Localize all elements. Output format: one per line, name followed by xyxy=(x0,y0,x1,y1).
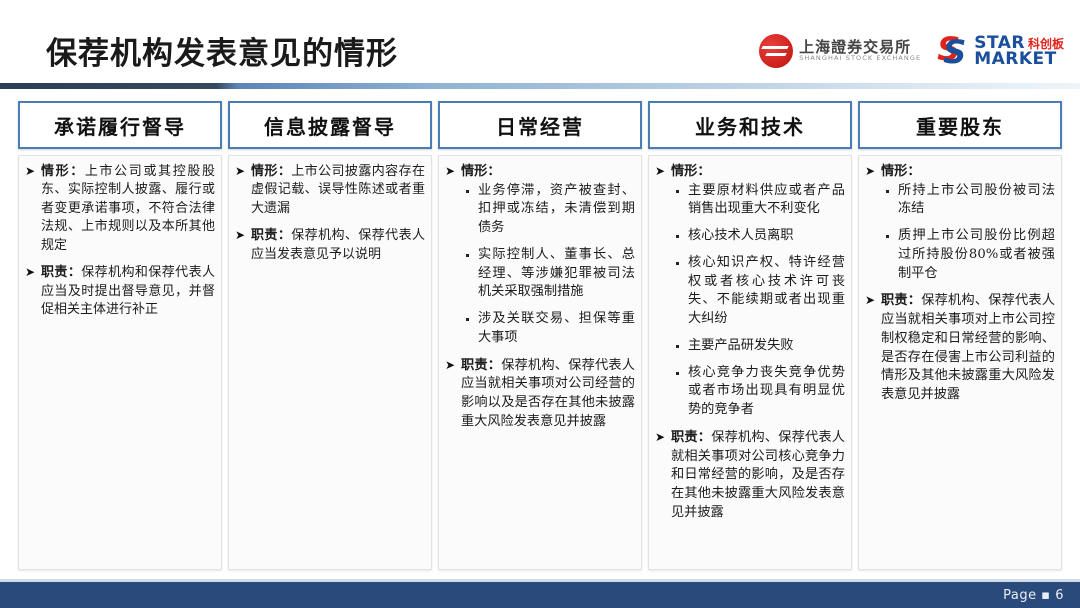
slide: 保荐机构发表意见的情形 上海證券交易所 SHANGHAI STOCK EXCHA… xyxy=(0,0,1080,608)
bullet-list: ➤情形：所持上市公司股份被司法冻结质押上市公司股份比例超过所持股份80%或者被强… xyxy=(864,163,1055,405)
list-item: ➤情形：主要原材料供应或者产品销售出现重大不利变化核心技术人员离职核心知识产权、… xyxy=(654,163,845,420)
column-header-4[interactable]: 业务和技术 xyxy=(648,101,852,149)
arrow-bullet-icon: ➤ xyxy=(235,163,245,180)
list-item: ➤职责：保荐机构、保荐代表人就相关事项对公司核心竞争力和日常经营的影响，及是否存… xyxy=(654,429,845,523)
bullet-list: ➤情形：主要原材料供应或者产品销售出现重大不利变化核心技术人员离职核心知识产权、… xyxy=(654,163,845,522)
page-title: 保荐机构发表意见的情形 xyxy=(46,28,398,73)
sse-logo-cn: 上海證券交易所 xyxy=(799,40,921,56)
column-header-3[interactable]: 日常经营 xyxy=(438,101,642,149)
sub-item-text: 主要产品研发失败 xyxy=(688,338,794,353)
arrow-bullet-icon: ➤ xyxy=(655,429,665,446)
sub-list-item: 涉及关联交易、担保等重大事项 xyxy=(464,310,635,347)
square-bullet-icon xyxy=(466,254,469,257)
square-bullet-icon xyxy=(466,318,469,321)
star-logo-en-bottom: MARKET xyxy=(974,51,1064,67)
sub-item-text: 业务停滞，资产被查封、扣押或冻结，未清偿到期债务 xyxy=(478,183,635,235)
sub-item-text: 核心竞争力丧失竞争优势或者市场出现具有明显优势的竞争者 xyxy=(688,365,845,417)
square-bullet-icon xyxy=(676,345,679,348)
list-item: ➤情形：上市公司披露内容存在虚假记载、误导性陈述或者重大遗漏 xyxy=(234,163,425,218)
sub-item-text: 实际控制人、董事长、总经理、等涉嫌犯罪被司法机关采取强制措施 xyxy=(478,247,635,299)
list-item: ➤情形：所持上市公司股份被司法冻结质押上市公司股份比例超过所持股份80%或者被强… xyxy=(864,163,1055,283)
sub-list-item: 主要产品研发失败 xyxy=(674,337,845,356)
sub-item-text: 主要原材料供应或者产品销售出现重大不利变化 xyxy=(688,183,845,217)
column-body-2: ➤情形：上市公司披露内容存在虚假记载、误导性陈述或者重大遗漏➤职责：保荐机构、保… xyxy=(228,155,432,570)
sub-list-item: 核心技术人员离职 xyxy=(674,227,845,246)
logo-group: 上海證券交易所 SHANGHAI STOCK EXCHANGE SS STAR … xyxy=(759,34,1064,68)
item-label: 情形： xyxy=(41,164,85,179)
page-number: Page ▪ 6 xyxy=(1003,588,1064,603)
sub-item-text: 质押上市公司股份比例超过所持股份80%或者被强制平仓 xyxy=(898,228,1055,280)
column-body-5: ➤情形：所持上市公司股份被司法冻结质押上市公司股份比例超过所持股份80%或者被强… xyxy=(858,155,1062,570)
column-5: 重要股东➤情形：所持上市公司股份被司法冻结质押上市公司股份比例超过所持股份80%… xyxy=(858,101,1062,570)
column-header-5[interactable]: 重要股东 xyxy=(858,101,1062,149)
list-item: ➤情形：上市公司或其控股股东、实际控制人披露、履行或者变更承诺事项，不符合法律法… xyxy=(24,163,215,255)
list-item: ➤职责：保荐机构、保荐代表人应当就相关事项对公司经营的影响以及是否存在其他未披露… xyxy=(444,357,635,432)
square-bullet-icon xyxy=(676,190,679,193)
sub-item-text: 核心技术人员离职 xyxy=(688,228,794,243)
arrow-bullet-icon: ➤ xyxy=(655,163,665,180)
slide-header: 保荐机构发表意见的情形 上海證券交易所 SHANGHAI STOCK EXCHA… xyxy=(0,0,1080,92)
sub-list-item: 业务停滞，资产被查封、扣押或冻结，未清偿到期债务 xyxy=(464,182,635,238)
arrow-bullet-icon: ➤ xyxy=(25,163,35,180)
column-header-label: 日常经营 xyxy=(496,111,584,140)
shanghai-stock-exchange-logo: 上海證券交易所 SHANGHAI STOCK EXCHANGE xyxy=(759,34,921,68)
column-header-1[interactable]: 承诺履行督导 xyxy=(18,101,222,149)
item-label: 职责： xyxy=(251,228,291,243)
arrow-bullet-icon: ➤ xyxy=(445,163,455,180)
item-label: 职责： xyxy=(671,430,711,445)
star-market-logo: SS STAR 科创板 MARKET xyxy=(937,35,1064,67)
sub-list-item: 质押上市公司股份比例超过所持股份80%或者被强制平仓 xyxy=(884,227,1055,283)
arrow-bullet-icon: ➤ xyxy=(865,292,875,309)
star-emblem-icon: SS xyxy=(937,35,969,67)
slide-footer: Page ▪ 6 xyxy=(0,579,1080,608)
column-body-3: ➤情形：业务停滞，资产被查封、扣押或冻结，未清偿到期债务实际控制人、董事长、总经… xyxy=(438,155,642,570)
list-item: ➤情形：业务停滞，资产被查封、扣押或冻结，未清偿到期债务实际控制人、董事长、总经… xyxy=(444,163,635,348)
list-item: ➤职责：保荐机构、保荐代表人应当就相关事项对上市公司控制权稳定和日常经营的影响、… xyxy=(864,292,1055,404)
item-text: 保荐机构、保荐代表人应当就相关事项对上市公司控制权稳定和日常经营的影响、是否存在… xyxy=(881,293,1055,402)
column-3: 日常经营➤情形：业务停滞，资产被查封、扣押或冻结，未清偿到期债务实际控制人、董事… xyxy=(438,101,642,570)
bullet-list: ➤情形：业务停滞，资产被查封、扣押或冻结，未清偿到期债务实际控制人、董事长、总经… xyxy=(444,163,635,432)
sse-emblem-icon xyxy=(759,34,793,68)
arrow-bullet-icon: ➤ xyxy=(445,357,455,374)
arrow-bullet-icon: ➤ xyxy=(235,227,245,244)
sub-list-item: 实际控制人、董事长、总经理、等涉嫌犯罪被司法机关采取强制措施 xyxy=(464,246,635,302)
square-bullet-icon xyxy=(886,190,889,193)
square-bullet-icon xyxy=(676,262,679,265)
sse-logo-en: SHANGHAI STOCK EXCHANGE xyxy=(799,55,921,62)
list-item: ➤职责：保荐机构和保荐代表人应当及时提出督导意见，并督促相关主体进行补正 xyxy=(24,264,215,319)
column-header-label: 业务和技术 xyxy=(695,111,805,140)
column-header-2[interactable]: 信息披露督导 xyxy=(228,101,432,149)
sub-list-item: 核心竞争力丧失竞争优势或者市场出现具有明显优势的竞争者 xyxy=(674,364,845,420)
sub-item-text: 所持上市公司股份被司法冻结 xyxy=(898,183,1055,217)
square-bullet-icon xyxy=(466,190,469,193)
column-header-label: 重要股东 xyxy=(916,111,1004,140)
column-1: 承诺履行督导➤情形：上市公司或其控股股东、实际控制人披露、履行或者变更承诺事项，… xyxy=(18,101,222,570)
square-bullet-icon xyxy=(676,372,679,375)
sub-item-text: 涉及关联交易、担保等重大事项 xyxy=(478,311,635,345)
sub-bullet-list: 主要原材料供应或者产品销售出现重大不利变化核心技术人员离职核心知识产权、特许经营… xyxy=(671,182,845,420)
arrow-bullet-icon: ➤ xyxy=(865,163,875,180)
column-header-label: 信息披露督导 xyxy=(264,111,396,140)
column-4: 业务和技术➤情形：主要原材料供应或者产品销售出现重大不利变化核心技术人员离职核心… xyxy=(648,101,852,570)
square-bullet-icon xyxy=(886,235,889,238)
arrow-bullet-icon: ➤ xyxy=(25,264,35,281)
item-label: 情形： xyxy=(461,164,501,179)
sub-bullet-list: 所持上市公司股份被司法冻结质押上市公司股份比例超过所持股份80%或者被强制平仓 xyxy=(881,182,1055,284)
list-item: ➤职责：保荐机构、保荐代表人应当发表意见予以说明 xyxy=(234,227,425,264)
column-body-1: ➤情形：上市公司或其控股股东、实际控制人披露、履行或者变更承诺事项，不符合法律法… xyxy=(18,155,222,570)
title-divider xyxy=(0,83,1080,89)
sub-item-text: 核心知识产权、特许经营权或者核心技术许可丧失、不能续期或者出现重大纠纷 xyxy=(688,255,845,326)
sub-bullet-list: 业务停滞，资产被查封、扣押或冻结，未清偿到期债务实际控制人、董事长、总经理、等涉… xyxy=(461,182,635,348)
item-label: 职责： xyxy=(881,293,921,308)
column-body-4: ➤情形：主要原材料供应或者产品销售出现重大不利变化核心技术人员离职核心知识产权、… xyxy=(648,155,852,570)
column-2: 信息披露督导➤情形：上市公司披露内容存在虚假记载、误导性陈述或者重大遗漏➤职责：… xyxy=(228,101,432,570)
item-label: 情形： xyxy=(671,164,711,179)
sub-list-item: 核心知识产权、特许经营权或者核心技术许可丧失、不能续期或者出现重大纠纷 xyxy=(674,254,845,329)
sub-list-item: 所持上市公司股份被司法冻结 xyxy=(884,182,1055,219)
item-label: 职责： xyxy=(41,265,81,280)
square-bullet-icon xyxy=(676,235,679,238)
item-label: 情形： xyxy=(881,164,921,179)
column-header-label: 承诺履行督导 xyxy=(54,111,186,140)
item-label: 情形： xyxy=(251,164,291,179)
item-label: 职责： xyxy=(461,358,501,373)
sub-list-item: 主要原材料供应或者产品销售出现重大不利变化 xyxy=(674,182,845,219)
columns-container: 承诺履行督导➤情形：上市公司或其控股股东、实际控制人披露、履行或者变更承诺事项，… xyxy=(18,101,1062,570)
bullet-list: ➤情形：上市公司披露内容存在虚假记载、误导性陈述或者重大遗漏➤职责：保荐机构、保… xyxy=(234,163,425,264)
bullet-list: ➤情形：上市公司或其控股股东、实际控制人披露、履行或者变更承诺事项，不符合法律法… xyxy=(24,163,215,320)
